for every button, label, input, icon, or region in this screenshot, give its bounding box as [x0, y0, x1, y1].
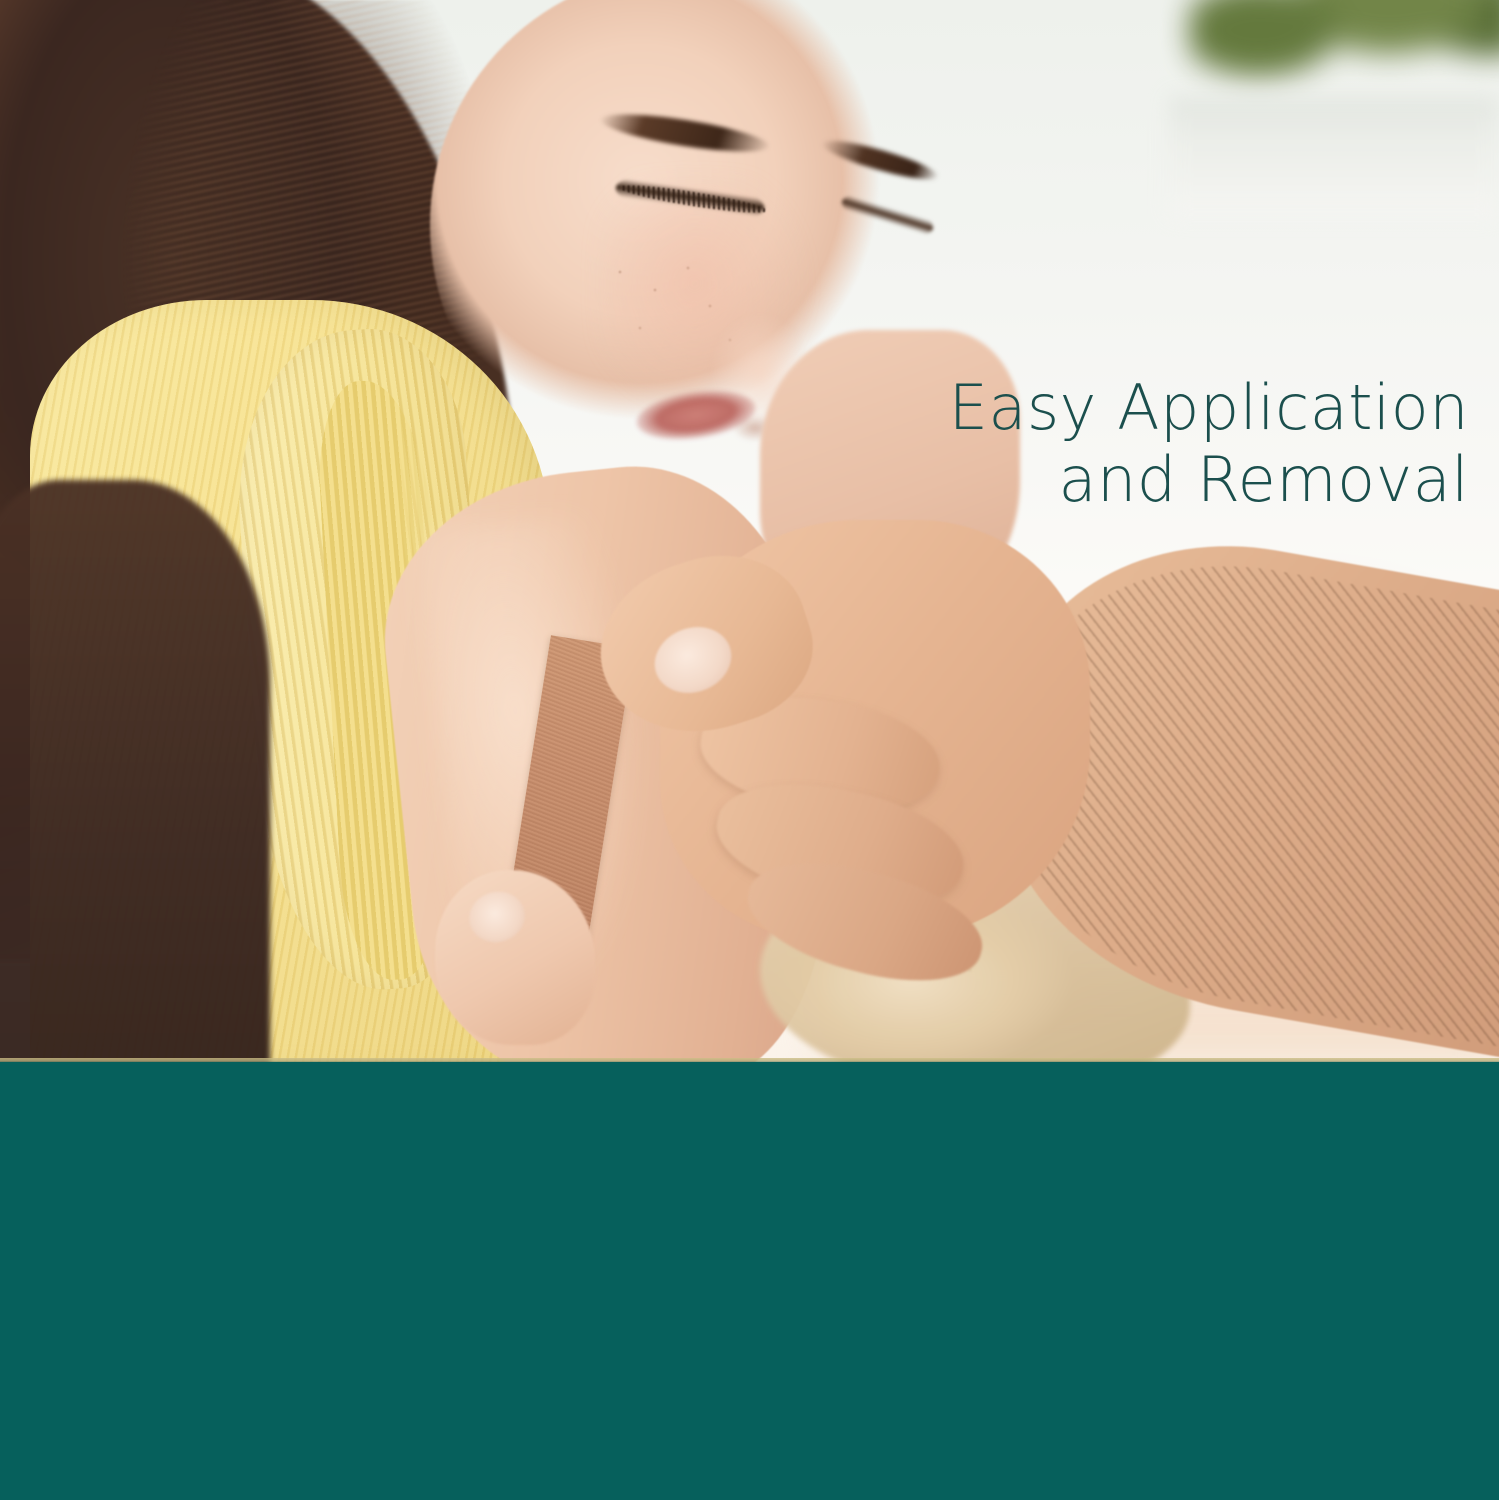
hero-photo: Easy Application and Removal [0, 0, 1499, 1062]
child-hair-lower [0, 480, 270, 1062]
product-feature-image: Easy Application and Removal NANARE AND … [0, 0, 1499, 1500]
features-panel: NANARE AND WE ALWAYS WILL NANARE AND WE … [0, 1062, 1499, 1500]
hero-headline: Easy Application and Removal [829, 372, 1469, 516]
plant-foliage-blur [1189, 0, 1499, 90]
background-shelf-blur [1169, 96, 1499, 216]
